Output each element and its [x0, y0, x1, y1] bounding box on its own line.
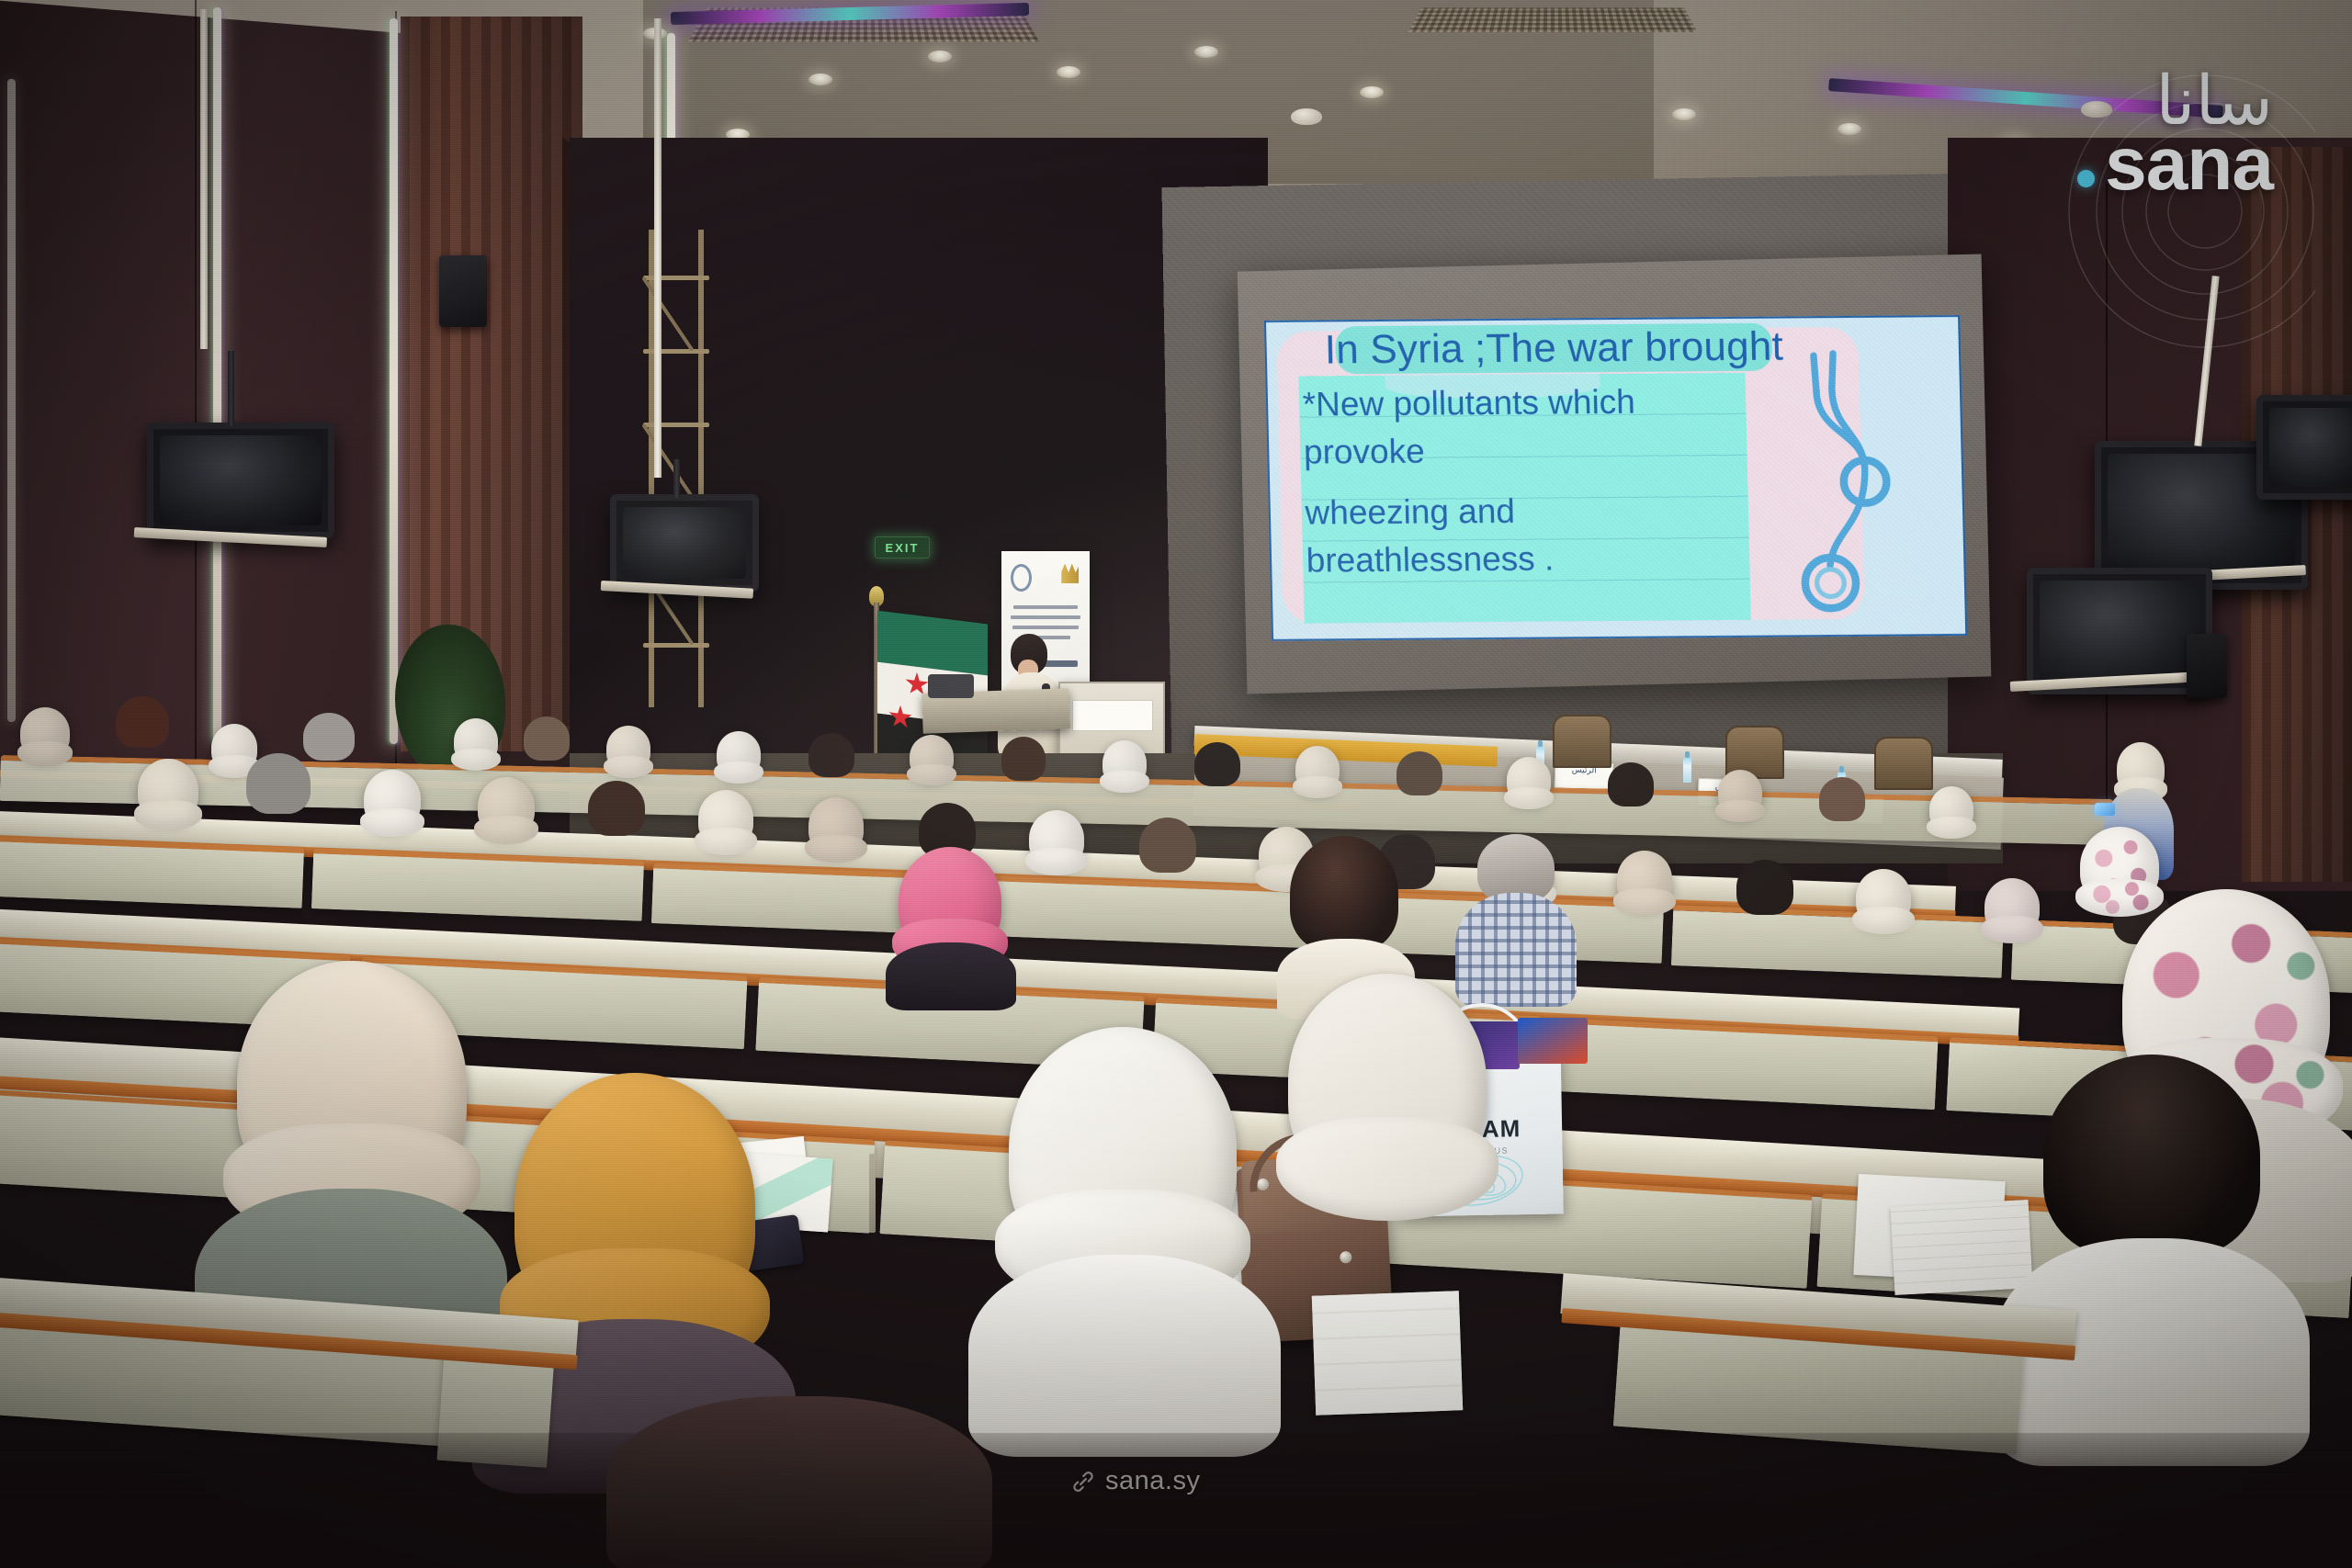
attendee-bottom-edge — [606, 1396, 992, 1568]
slide-title: In Syria ;The war brought — [1335, 323, 1772, 374]
audience-head-hair — [303, 713, 355, 761]
panel-chair — [1874, 737, 1933, 790]
hijab — [899, 847, 1001, 955]
audience-head-hijab — [1102, 740, 1147, 786]
monitor-hanging-rod — [654, 18, 661, 478]
banner-emblem-icon — [1011, 564, 1032, 592]
seat-back — [0, 835, 304, 908]
audience-head-hijab — [138, 759, 198, 821]
audience-head-hijab — [454, 718, 498, 764]
hijab — [1009, 1027, 1237, 1273]
ceiling-downlight — [808, 73, 832, 85]
slide-bullet-1-line-1: *New pollutants which provoke — [1302, 377, 1747, 476]
ceiling-vent-grille — [1408, 7, 1698, 31]
attendee-foreground-white-hijab — [985, 1027, 1261, 1450]
watermark-text: sana.sy — [1105, 1466, 1200, 1496]
scaffold-rung — [643, 423, 709, 427]
ceiling-downlight — [1360, 86, 1384, 98]
ceiling-downlight — [1057, 66, 1080, 78]
scaffold-rung — [643, 349, 709, 354]
audience-head-hair — [808, 733, 854, 777]
panel-chair — [1553, 715, 1611, 768]
seat-divider — [869, 1154, 876, 1233]
audience-head-hair — [1194, 742, 1240, 786]
seat-back — [311, 848, 644, 921]
slide-bullet-list: *New pollutants which provoke wheezing a… — [1302, 377, 1760, 640]
scaffold-rung — [643, 643, 709, 648]
banner-text-line — [1013, 605, 1077, 609]
seat-back — [1671, 905, 2004, 978]
monitor-screen — [2269, 408, 2352, 487]
sana-logo-dot — [2077, 170, 2095, 187]
audience-head-hijab — [1856, 869, 1911, 926]
hijab — [237, 961, 467, 1207]
wall-light-strip — [213, 7, 221, 742]
audience-head-hair — [1001, 737, 1046, 781]
conference-photo: In Syria ;The war brought *New pollutant… — [0, 0, 2352, 1568]
ceiling-monitor-left-1 — [147, 423, 334, 538]
link-icon — [1070, 1469, 1096, 1495]
audience-head-hair — [1608, 762, 1654, 807]
audience-head-hijab — [211, 724, 257, 772]
sana-logo-latin: sana — [2105, 130, 2273, 198]
slide-bullet-2-line-1: •Displacement from home, living in — [1307, 634, 1753, 640]
audience-head-hijab — [808, 797, 864, 854]
audience-head-hijab — [717, 731, 761, 777]
ceiling-downlight — [1672, 108, 1696, 120]
ceiling-downlight — [1194, 46, 1218, 58]
audience-head-hijab — [1617, 851, 1672, 908]
audience-head-hair — [246, 753, 311, 814]
sana-logo: سانا sana — [2105, 72, 2273, 198]
sana-logo-latin-text: sana — [2105, 122, 2273, 206]
banner-text-line — [1012, 626, 1080, 629]
audience-head-hair — [116, 696, 169, 748]
wall-speaker — [2187, 634, 2227, 698]
slide-bullet-2-text: Displacement from home, living in — [1349, 639, 1737, 641]
monitor-hanging-rod — [200, 9, 208, 349]
monitor-screen — [623, 507, 746, 579]
hijab — [514, 1073, 755, 1339]
ceiling-monitor-right-3 — [2256, 395, 2352, 500]
shoulders — [606, 1396, 992, 1568]
hair — [2043, 1055, 2260, 1258]
slide-spacer — [1306, 593, 1750, 625]
presentation-slide: In Syria ;The war brought *New pollutant… — [1263, 315, 1967, 641]
attendee-foreground-dark-hair — [2012, 1055, 2288, 1459]
water-bottle — [1683, 757, 1691, 783]
ceiling-downlight — [928, 51, 952, 62]
smoke-detector-icon — [1291, 108, 1322, 125]
audience-head-hair — [1139, 818, 1196, 873]
flyer-card — [1518, 1018, 1588, 1064]
wall-seam — [195, 0, 197, 762]
ceiling-monitor-left-2 — [610, 494, 759, 592]
wall-light-strip — [390, 18, 398, 744]
scaffold-rung — [643, 276, 709, 280]
audience-head-hijab — [1295, 746, 1340, 792]
audience-head-hijab — [1507, 757, 1551, 803]
podium-sign — [1072, 700, 1152, 732]
stage-equipment-case — [928, 674, 974, 698]
projection-screen: In Syria ;The war brought *New pollutant… — [1238, 254, 1992, 694]
attendee-pink-hijab — [891, 847, 1011, 1003]
audience-head-hijab — [606, 726, 650, 772]
audience-head-hijab — [1029, 810, 1084, 867]
foreground-shadow — [0, 1433, 2352, 1568]
audience-head-hijab — [1929, 786, 1973, 832]
smartphone-screen — [2095, 803, 2115, 816]
wall-light-strip — [7, 79, 16, 722]
watermark: sana.sy — [1070, 1466, 1200, 1496]
audience-head-hijab — [1984, 878, 2040, 935]
hijab — [1288, 974, 1487, 1190]
slide-bullet-1-line-2: wheezing and breathlessness . — [1304, 485, 1749, 584]
audience-head-hair — [1819, 777, 1865, 821]
monitor-screen — [160, 435, 322, 525]
attendee-foreground-pale-hijab — [1268, 974, 1507, 1341]
audience-head-hijab — [478, 777, 535, 836]
audience-head-hair — [1736, 860, 1793, 915]
hair — [1477, 834, 1555, 902]
hair — [1290, 836, 1398, 952]
audience-head-hijab — [1718, 770, 1762, 816]
monitor-screen — [2040, 581, 2199, 682]
monitor-mount-arm — [673, 459, 680, 498]
monitor-mount-arm — [228, 351, 234, 426]
audience-head-hijab — [910, 735, 954, 779]
exit-sign-label: EXIT — [886, 541, 920, 555]
banner-wreath-icon — [1061, 564, 1079, 584]
shoulders — [886, 942, 1016, 1010]
exit-sign: EXIT — [875, 536, 930, 558]
audience-head-hijab — [698, 790, 753, 847]
audience-head-hijab — [364, 770, 421, 829]
audience-head-hair — [588, 781, 645, 836]
wall-speaker — [439, 255, 487, 327]
shoulders — [968, 1255, 1281, 1457]
ceiling-downlight — [1837, 123, 1861, 135]
audience-head-hair — [524, 716, 570, 761]
banner-text-line — [1011, 615, 1081, 619]
audience-head-hijab — [20, 707, 70, 759]
audience-head-hair — [1396, 751, 1442, 795]
